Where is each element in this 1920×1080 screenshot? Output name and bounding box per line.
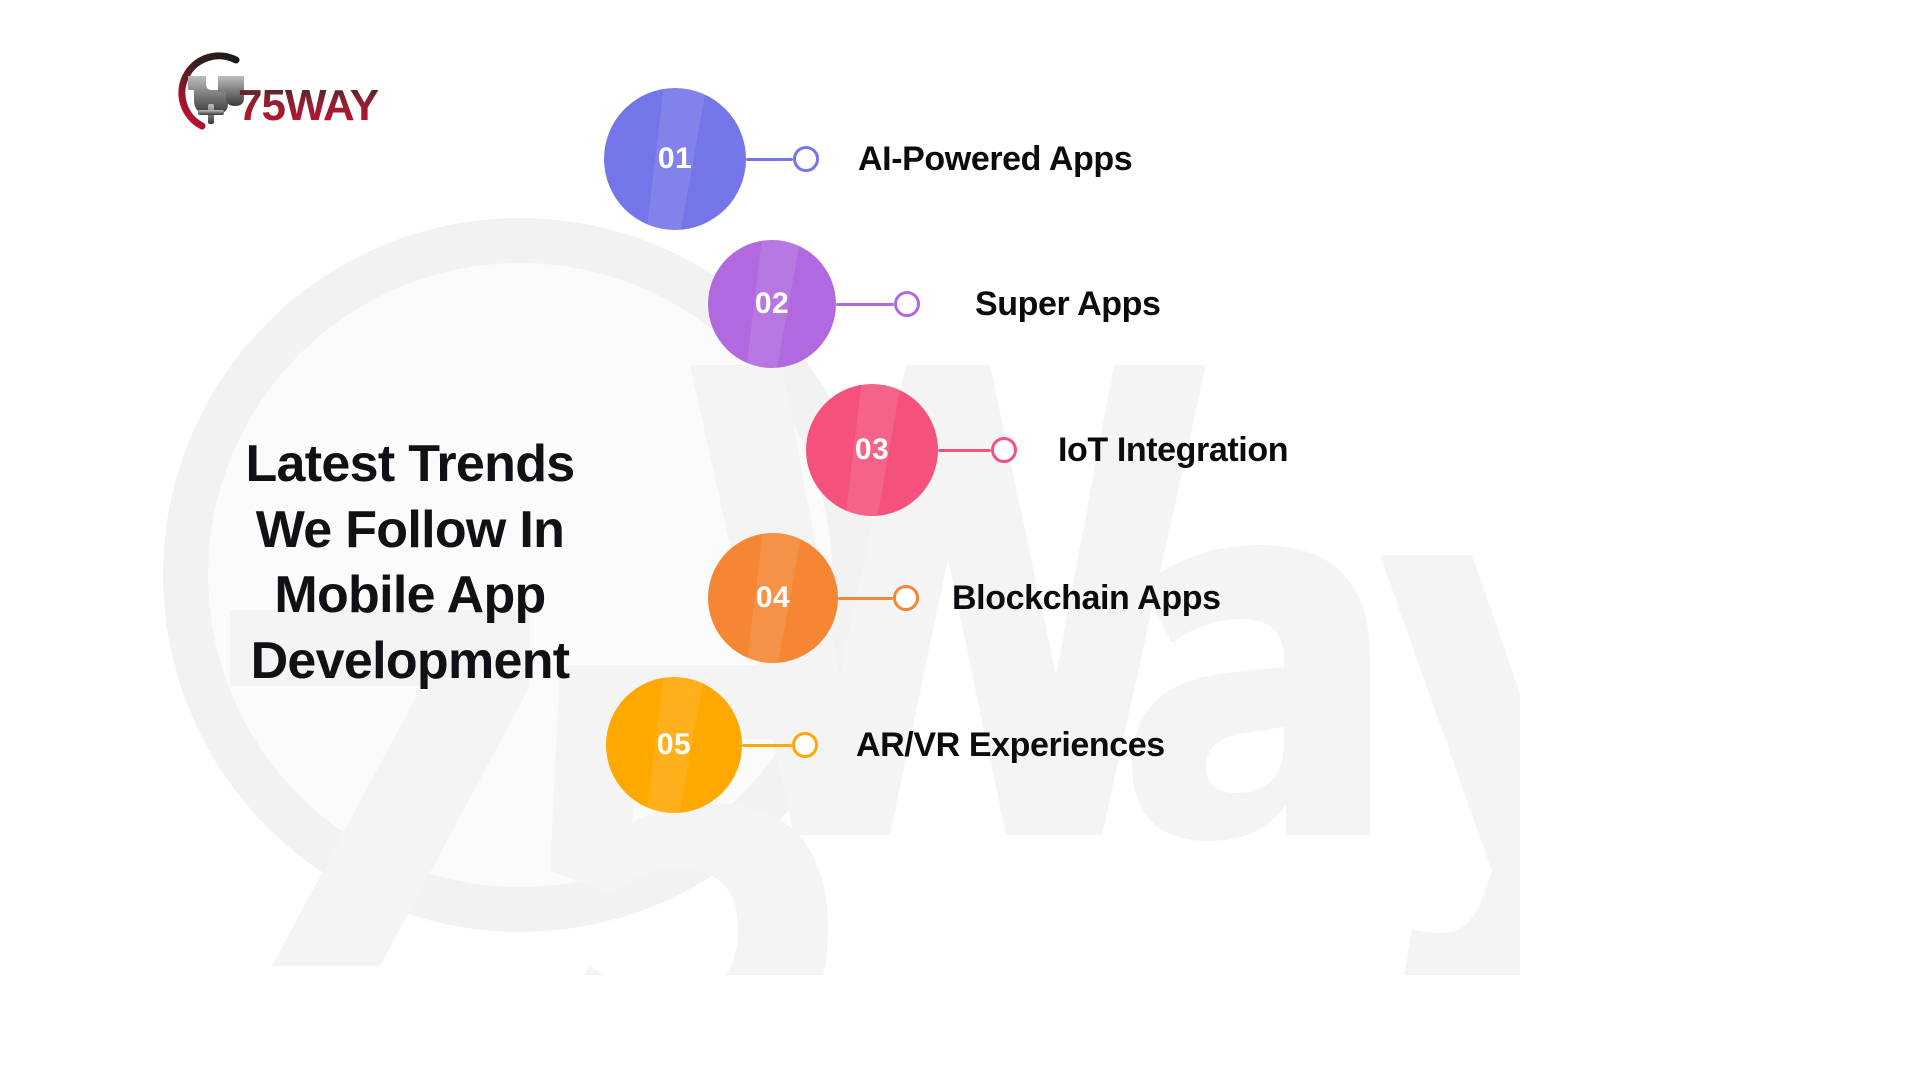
trend-number: 01	[658, 142, 692, 176]
trend-number-bubble[interactable]: 01	[604, 88, 746, 230]
connector-line	[746, 158, 793, 161]
page-title: Latest Trends We Follow In Mobile App De…	[180, 432, 640, 694]
title-line-2: We Follow In	[180, 498, 640, 564]
trend-label: Super Apps	[975, 287, 1161, 321]
trend-number: 03	[855, 433, 889, 467]
connector-line	[938, 449, 991, 452]
trend-number-bubble[interactable]: 03	[806, 384, 938, 516]
connector-ring-icon	[894, 291, 920, 317]
trend-number: 02	[755, 287, 789, 321]
trend-label: AI-Powered Apps	[858, 142, 1132, 176]
trend-number-bubble[interactable]: 05	[606, 677, 742, 813]
trend-label: IoT Integration	[1058, 433, 1288, 467]
title-line-3: Mobile App	[180, 563, 640, 629]
title-line-1: Latest Trends	[180, 432, 640, 498]
brand-symbol	[188, 76, 244, 124]
title-line-4: Development	[180, 629, 640, 695]
trend-label: Blockchain Apps	[952, 581, 1221, 615]
connector-ring-icon	[991, 437, 1017, 463]
connector-ring-icon	[793, 146, 819, 172]
logo-wordmark: 75WAY	[238, 81, 379, 130]
brand-logo[interactable]: 75WAY	[140, 38, 390, 138]
connector-ring-icon	[792, 732, 818, 758]
trend-label: AR/VR Experiences	[856, 728, 1165, 762]
connector-line	[838, 597, 893, 600]
trend-number-bubble[interactable]: 04	[708, 533, 838, 663]
trend-number-bubble[interactable]: 02	[708, 240, 836, 368]
connector-line	[742, 744, 792, 747]
infographic-canvas: 75WAY Latest Trends We Follow In Mobile …	[0, 0, 1920, 1080]
connector-ring-icon	[893, 585, 919, 611]
connector-line	[836, 303, 894, 306]
trend-number: 05	[657, 728, 691, 762]
trend-number: 04	[756, 581, 790, 615]
